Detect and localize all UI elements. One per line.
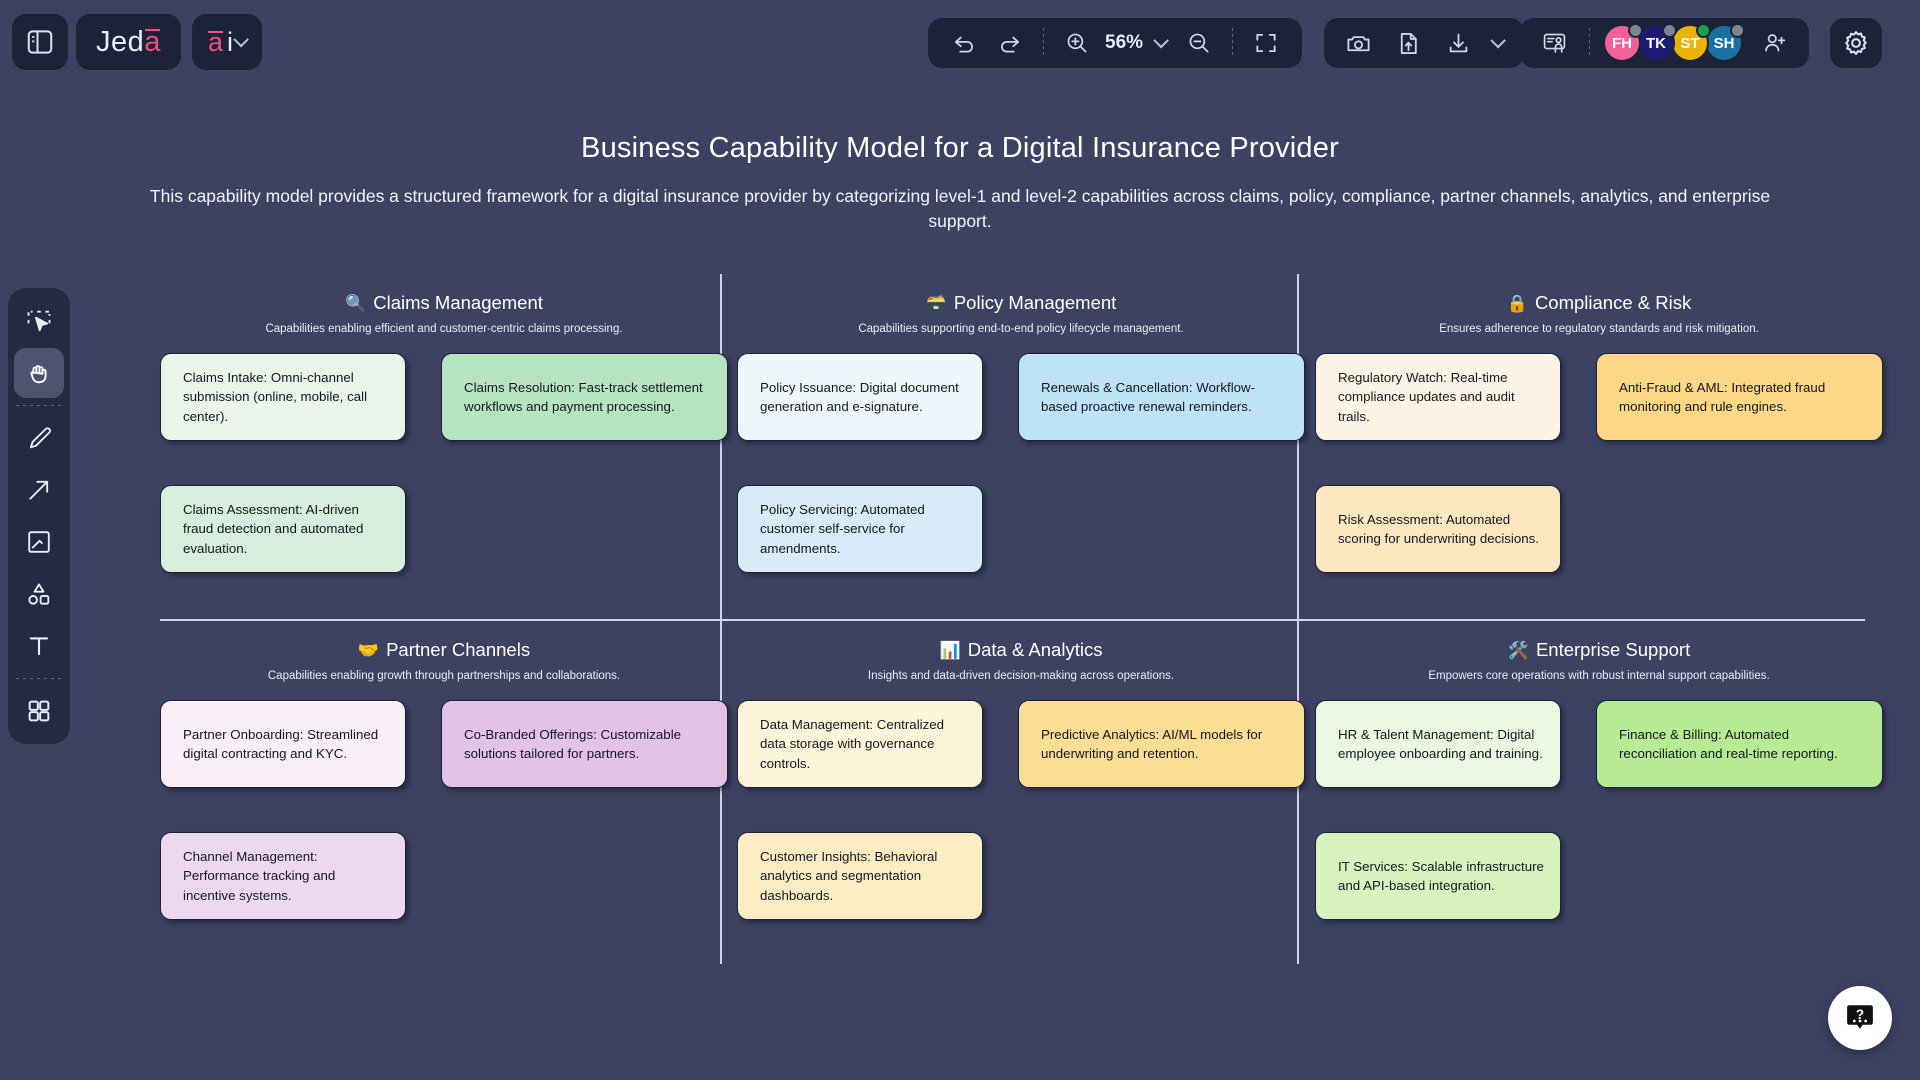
download-options-button[interactable]	[1486, 21, 1512, 65]
capability-card[interactable]: Policy Issuance: Digital document genera…	[737, 353, 983, 441]
avatar-initials: SH	[1714, 35, 1735, 52]
capability-card-text: Finance & Billing: Automated reconciliat…	[1619, 725, 1868, 764]
capability-card-text: Claims Assessment: AI-driven fraud detec…	[183, 500, 391, 558]
quadrant-title-text: Claims Management	[373, 292, 543, 314]
capability-card[interactable]: Predictive Analytics: AI/ML models for u…	[1018, 700, 1305, 788]
zoom-in-icon	[1064, 30, 1090, 56]
capability-card[interactable]: Regulatory Watch: Real-time compliance u…	[1315, 353, 1561, 441]
capability-card-text: Regulatory Watch: Real-time compliance u…	[1338, 368, 1546, 426]
quadrant-title-text: Policy Management	[954, 292, 1116, 314]
quadrant-title: 🔒Compliance & Risk	[1315, 292, 1883, 314]
capability-card-text: Policy Issuance: Digital document genera…	[760, 378, 968, 417]
capability-card[interactable]: IT Services: Scalable infrastructure and…	[1315, 832, 1561, 920]
capability-card-text: Claims Resolution: Fast-track settlement…	[464, 378, 713, 417]
page-title: Business Capability Model for a Digital …	[0, 132, 1920, 165]
download-icon	[1445, 30, 1472, 57]
brand-text: Jed	[96, 26, 144, 59]
data-analytics-icon: 📊	[940, 642, 961, 659]
capability-card[interactable]: Anti-Fraud & AML: Integrated fraud monit…	[1596, 353, 1883, 441]
claims-management-icon: 🔍	[345, 295, 366, 312]
zoom-out-button[interactable]	[1177, 21, 1221, 65]
policy-management-icon: 🗃️	[926, 295, 947, 312]
quadrant-compliance-risk: 🔒Compliance & RiskEnsures adherence to r…	[1315, 292, 1883, 593]
app-root: Jeda ai	[0, 0, 1920, 1080]
toolbar-divider	[1589, 28, 1590, 58]
capability-card[interactable]: Co-Branded Offerings: Customizable solut…	[441, 700, 728, 788]
add-person-icon	[1762, 30, 1788, 56]
capability-card[interactable]: HR & Talent Management: Digital employee…	[1315, 700, 1561, 788]
settings-button[interactable]	[1830, 18, 1882, 68]
quadrant-title-text: Partner Channels	[386, 639, 530, 661]
capability-card[interactable]: Claims Intake: Omni-channel submission (…	[160, 353, 406, 441]
panel-left-icon	[25, 27, 55, 57]
add-person-button[interactable]	[1753, 21, 1797, 65]
quadrant-title: 🗃️Policy Management	[737, 292, 1305, 314]
enterprise-support-icon: 🛠️	[1508, 642, 1529, 659]
undo-button[interactable]	[942, 21, 986, 65]
avatar-initials: ST	[1680, 35, 1699, 52]
svg-text:?: ?	[1856, 1007, 1864, 1022]
quadrant-title-text: Compliance & Risk	[1535, 292, 1691, 314]
capability-card[interactable]: Claims Resolution: Fast-track settlement…	[441, 353, 728, 441]
zoom-toolbar-group: 56%	[928, 18, 1302, 68]
page-subtitle: This capability model provides a structu…	[120, 184, 1800, 235]
quadrant-description: Insights and data-driven decision-making…	[737, 670, 1305, 682]
quadrant-header: 🔍Claims ManagementCapabilities enabling …	[160, 292, 728, 335]
presentation-icon	[1541, 30, 1568, 57]
capability-card[interactable]: Customer Insights: Behavioral analytics …	[737, 832, 983, 920]
collaborators-toolbar-group: FHTKSTSH	[1520, 18, 1809, 68]
avatar[interactable]: FH	[1603, 24, 1641, 62]
capability-card-text: Partner Onboarding: Streamlined digital …	[183, 725, 391, 764]
capability-card[interactable]: Channel Management: Performance tracking…	[160, 832, 406, 920]
brand-accent-letter: a	[144, 26, 161, 59]
capability-card[interactable]: Claims Assessment: AI-driven fraud detec…	[160, 485, 406, 573]
quadrant-description: Capabilities enabling growth through par…	[160, 670, 728, 682]
capability-card-text: IT Services: Scalable infrastructure and…	[1338, 857, 1546, 896]
capability-card-text: Data Management: Centralized data storag…	[760, 715, 968, 773]
quadrant-description: Capabilities enabling efficient and cust…	[160, 323, 728, 335]
brand-logo[interactable]: Jeda	[76, 14, 181, 70]
grid-hline	[160, 619, 1865, 621]
quadrant-title: 🤝Partner Channels	[160, 639, 728, 661]
export-toolbar-group	[1324, 18, 1524, 68]
capability-card-text: Co-Branded Offerings: Customizable solut…	[464, 725, 713, 764]
compliance-risk-icon: 🔒	[1507, 295, 1528, 312]
capability-grid: 🔍Claims ManagementCapabilities enabling …	[160, 274, 1865, 954]
capability-card[interactable]: Data Management: Centralized data storag…	[737, 700, 983, 788]
avatar-status-dot	[1628, 23, 1643, 38]
screenshot-button[interactable]	[1336, 21, 1380, 65]
quadrant-description: Ensures adherence to regulatory standard…	[1315, 323, 1883, 335]
upload-button[interactable]	[1386, 21, 1430, 65]
partner-channels-icon: 🤝	[358, 642, 379, 659]
quadrant-header: 📊Data & AnalyticsInsights and data-drive…	[737, 639, 1305, 682]
capability-card[interactable]: Renewals & Cancellation: Workflow-based …	[1018, 353, 1305, 441]
toolbar-divider	[1043, 28, 1044, 58]
toolbar-divider	[1232, 28, 1233, 58]
quadrant-description: Empowers core operations with robust int…	[1315, 670, 1883, 682]
capability-card-text: Renewals & Cancellation: Workflow-based …	[1041, 378, 1290, 417]
quadrant-claims-management: 🔍Claims ManagementCapabilities enabling …	[160, 292, 728, 593]
quadrant-title: 🛠️Enterprise Support	[1315, 639, 1883, 661]
quadrant-title-text: Data & Analytics	[968, 639, 1103, 661]
capability-card-list: Policy Issuance: Digital document genera…	[737, 353, 1305, 593]
capability-card-text: Predictive Analytics: AI/ML models for u…	[1041, 725, 1290, 764]
redo-icon	[997, 30, 1023, 56]
capability-card-text: Risk Assessment: Automated scoring for u…	[1338, 510, 1546, 549]
capability-card[interactable]: Risk Assessment: Automated scoring for u…	[1315, 485, 1561, 573]
capability-card-list: Data Management: Centralized data storag…	[737, 700, 1305, 940]
present-button[interactable]	[1532, 21, 1576, 65]
fit-screen-icon	[1253, 30, 1279, 56]
quadrant-header: 🔒Compliance & RiskEnsures adherence to r…	[1315, 292, 1883, 335]
capability-card-list: HR & Talent Management: Digital employee…	[1315, 700, 1883, 940]
capability-card-text: HR & Talent Management: Digital employee…	[1338, 725, 1546, 764]
quadrant-title: 📊Data & Analytics	[737, 639, 1305, 661]
help-button[interactable]: ?	[1828, 986, 1892, 1050]
avatar-initials: FH	[1612, 35, 1632, 52]
capability-card-list: Partner Onboarding: Streamlined digital …	[160, 700, 728, 940]
quadrant-title-text: Enterprise Support	[1536, 639, 1690, 661]
redo-button[interactable]	[988, 21, 1032, 65]
quadrant-partner-channels: 🤝Partner ChannelsCapabilities enabling g…	[160, 639, 728, 940]
avatar-status-dot	[1730, 23, 1745, 38]
zoom-level-value[interactable]: 56%	[1101, 32, 1147, 54]
avatar-status-dot	[1696, 23, 1711, 38]
capability-card[interactable]: Policy Servicing: Automated customer sel…	[737, 485, 983, 573]
chevron-down-icon	[233, 31, 249, 47]
capability-card-list: Claims Intake: Omni-channel submission (…	[160, 353, 728, 593]
file-upload-icon	[1395, 30, 1422, 57]
canvas[interactable]: Business Capability Model for a Digital …	[0, 84, 1920, 1080]
quadrant-description: Capabilities supporting end-to-end polic…	[737, 323, 1305, 335]
quadrant-header: 🗃️Policy ManagementCapabilities supporti…	[737, 292, 1305, 335]
quadrant-header: 🛠️Enterprise SupportEmpowers core operat…	[1315, 639, 1883, 682]
sidebar-toggle-button[interactable]	[12, 14, 68, 70]
ai-menu-button[interactable]: ai	[192, 14, 262, 70]
capability-card[interactable]: Finance & Billing: Automated reconciliat…	[1596, 700, 1883, 788]
quadrant-data-analytics: 📊Data & AnalyticsInsights and data-drive…	[737, 639, 1305, 940]
chevron-down-icon	[1153, 32, 1169, 48]
quadrant-header: 🤝Partner ChannelsCapabilities enabling g…	[160, 639, 728, 682]
capability-card-text: Policy Servicing: Automated customer sel…	[760, 500, 968, 558]
download-button[interactable]	[1436, 21, 1480, 65]
zoom-in-button[interactable]	[1055, 21, 1099, 65]
top-toolbar: Jeda ai	[0, 0, 1920, 84]
chevron-down-icon	[1490, 32, 1506, 48]
avatar-initials: TK	[1646, 35, 1666, 52]
capability-card-text: Anti-Fraud & AML: Integrated fraud monit…	[1619, 378, 1868, 417]
quadrant-enterprise-support: 🛠️Enterprise SupportEmpowers core operat…	[1315, 639, 1883, 940]
camera-icon	[1345, 30, 1372, 57]
capability-card-text: Customer Insights: Behavioral analytics …	[760, 847, 968, 905]
capability-card-list: Regulatory Watch: Real-time compliance u…	[1315, 353, 1883, 593]
zoom-out-icon	[1186, 30, 1212, 56]
ai-label-a: a	[208, 27, 223, 58]
capability-card-text: Channel Management: Performance tracking…	[183, 847, 391, 905]
collaborator-avatars: FHTKSTSH	[1603, 24, 1743, 62]
capability-card[interactable]: Partner Onboarding: Streamlined digital …	[160, 700, 406, 788]
zoom-dropdown-button[interactable]	[1149, 21, 1175, 65]
help-icon: ?	[1843, 1001, 1877, 1035]
capability-card-text: Claims Intake: Omni-channel submission (…	[183, 368, 391, 426]
ai-label-i: i	[227, 27, 233, 58]
avatar-status-dot	[1662, 23, 1677, 38]
gear-icon	[1841, 28, 1871, 58]
undo-icon	[951, 30, 977, 56]
fit-screen-button[interactable]	[1244, 21, 1288, 65]
quadrant-title: 🔍Claims Management	[160, 292, 728, 314]
quadrant-policy-management: 🗃️Policy ManagementCapabilities supporti…	[737, 292, 1305, 593]
